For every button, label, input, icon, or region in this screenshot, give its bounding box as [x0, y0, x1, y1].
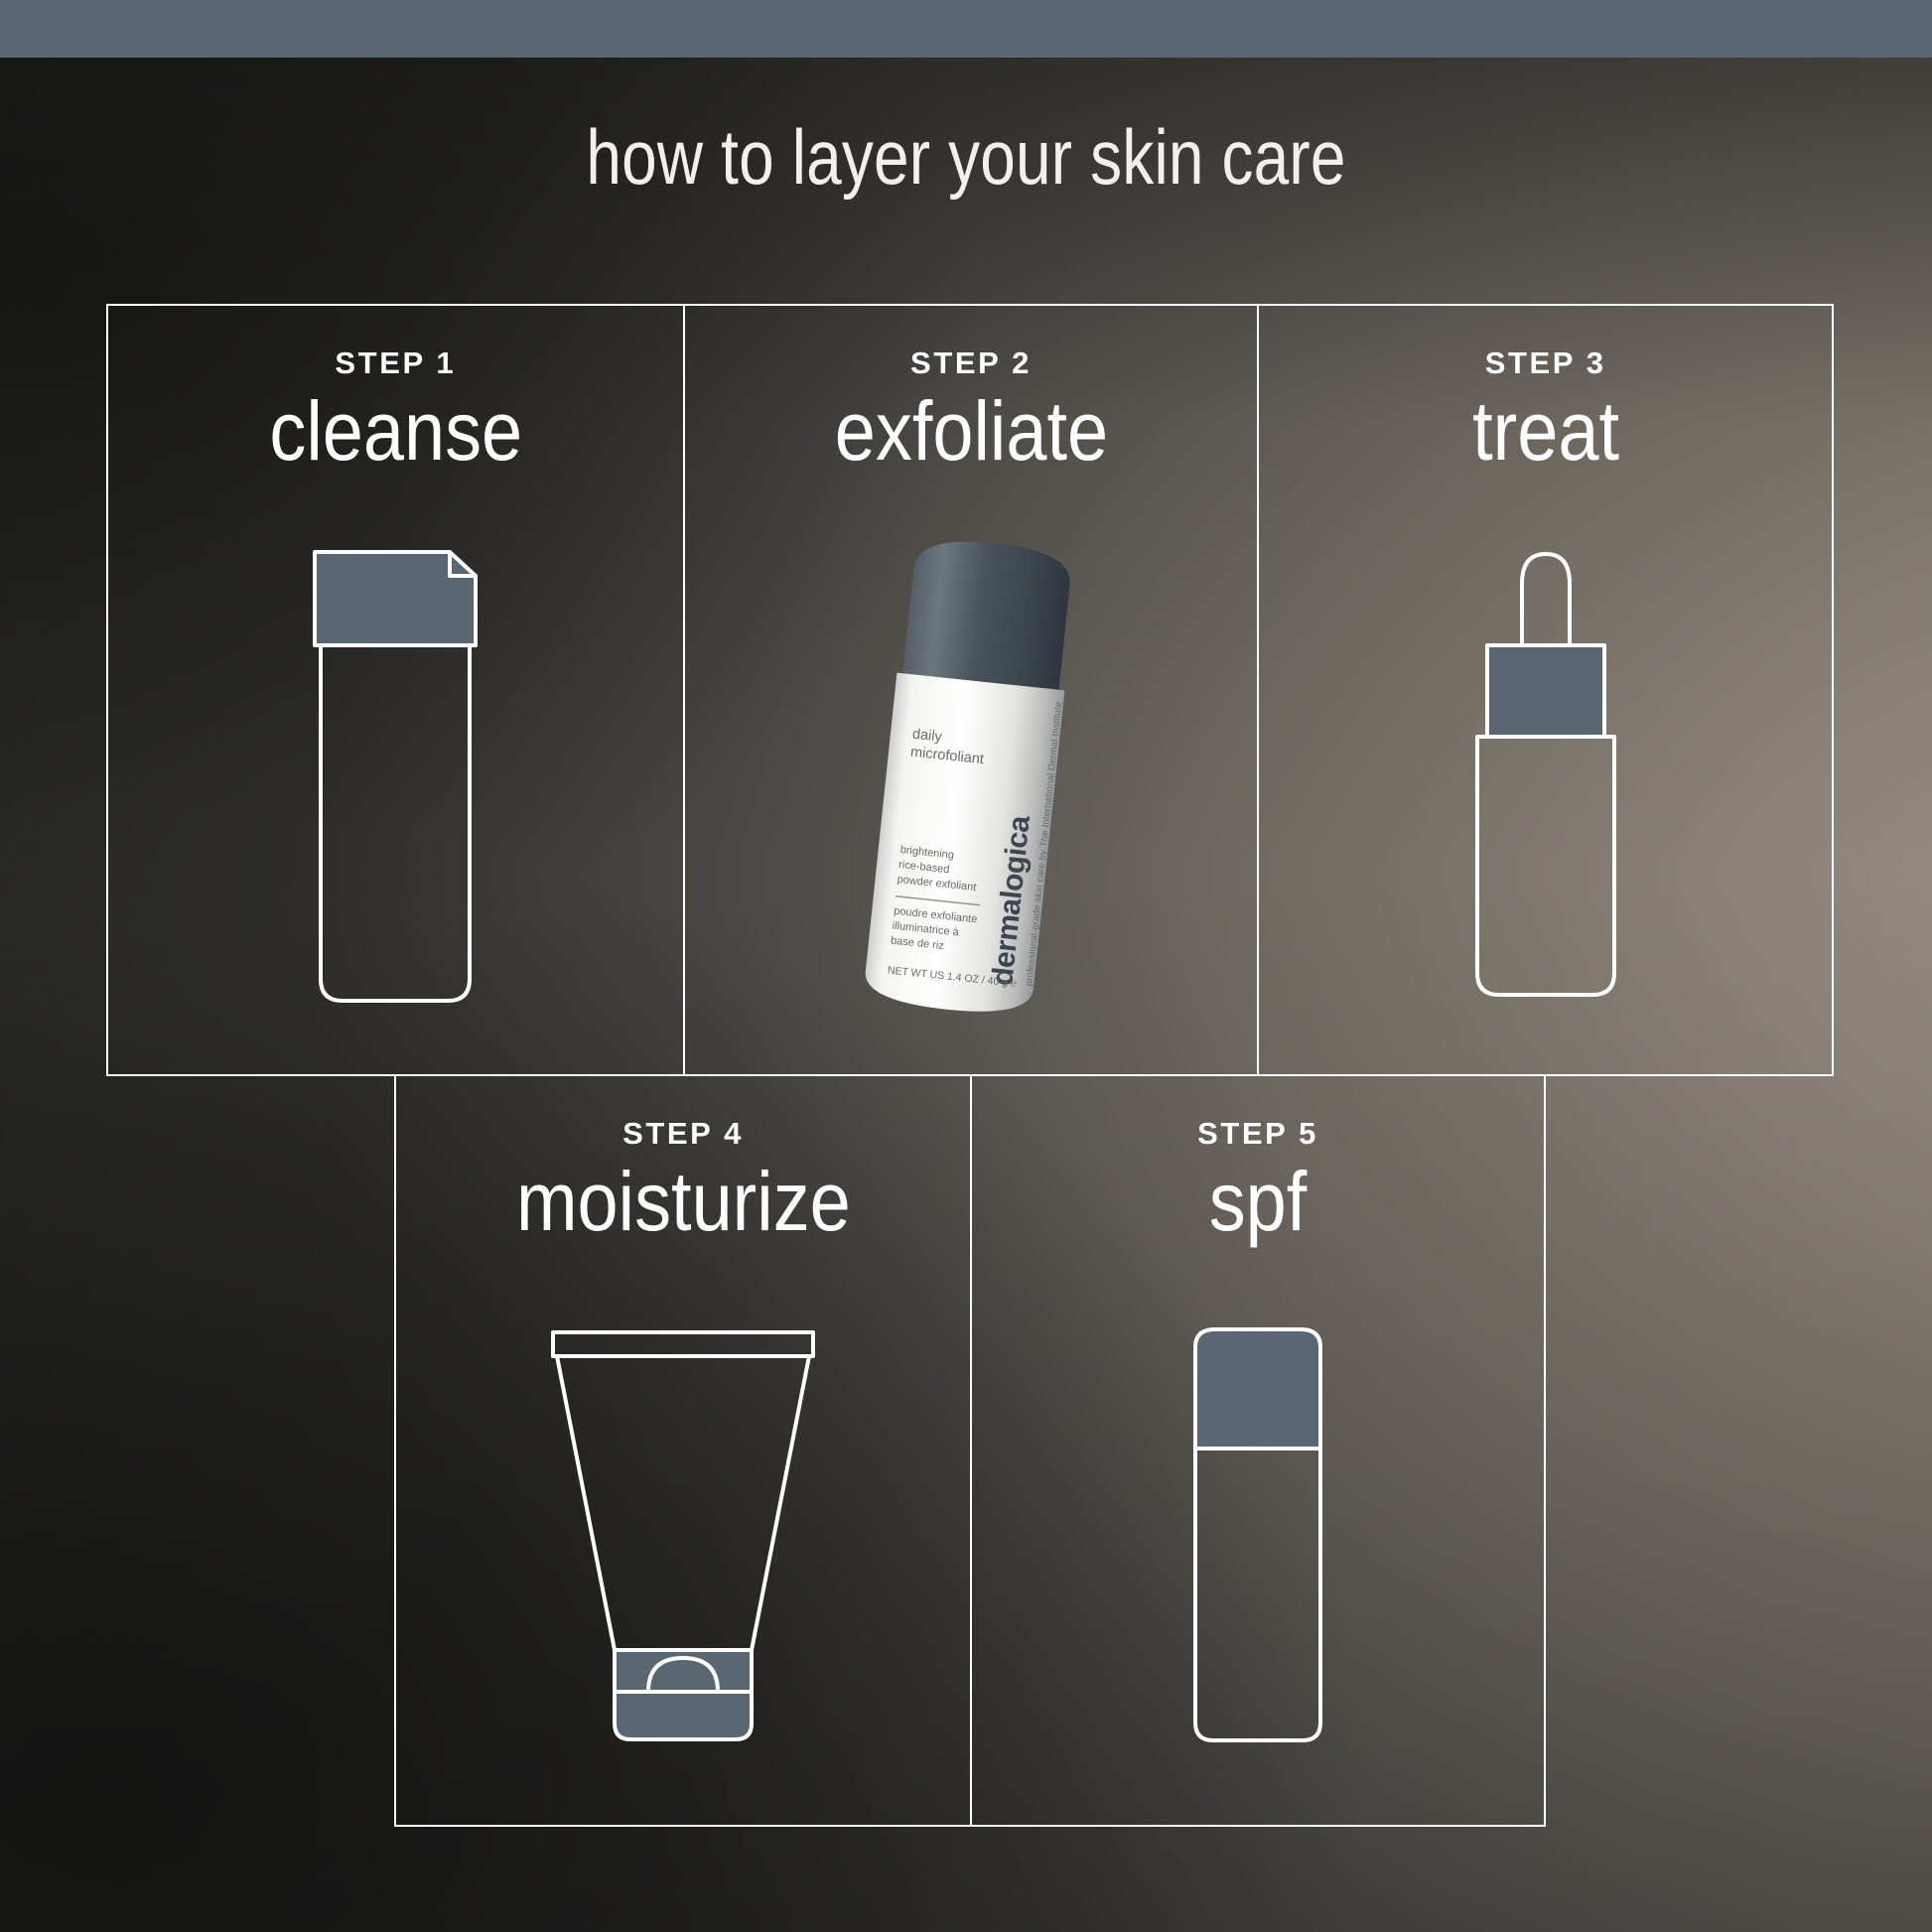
step-cell-exfoliate[interactable]: STEP 2 exfoliate [683, 306, 1258, 1074]
step-cell-spf[interactable]: STEP 5 spf [970, 1076, 1544, 1825]
svg-text:daily: daily [911, 727, 943, 746]
step-label-3: STEP 3 [1485, 347, 1606, 378]
step-name-1: cleanse [269, 386, 522, 477]
step-name-2: exfoliate [834, 386, 1107, 477]
product-art-dropper [1259, 477, 1832, 1074]
step-label-5: STEP 5 [1197, 1118, 1318, 1149]
product-art-spf [972, 1247, 1544, 1825]
infographic-canvas: how to layer your skin care STEP 1 clean… [0, 0, 1932, 1932]
steps-grid-top: STEP 1 cleanse STEP 2 exfoliate [106, 304, 1834, 1076]
product-art-microfoliant: dermalogica professional-grade skin care… [685, 477, 1258, 1074]
step-label-2: STEP 2 [910, 347, 1032, 378]
page-title: how to layer your skin care [174, 117, 1758, 199]
step-cell-moisturize[interactable]: STEP 4 moisturize [396, 1076, 970, 1825]
step-name-4: moisturize [516, 1157, 851, 1247]
step-cell-treat[interactable]: STEP 3 treat [1257, 306, 1832, 1074]
step-name-3: treat [1472, 386, 1619, 477]
step-cell-cleanse[interactable]: STEP 1 cleanse [108, 306, 683, 1074]
product-art-tube [396, 1247, 970, 1825]
step-name-5: spf [1209, 1157, 1308, 1247]
top-accent-bar [0, 0, 1932, 58]
product-art-cleanser [108, 477, 683, 1074]
steps-grid-bottom: STEP 4 moisturize STEP 5 spf [394, 1076, 1546, 1827]
step-label-1: STEP 1 [335, 347, 456, 378]
step-label-4: STEP 4 [622, 1118, 744, 1149]
